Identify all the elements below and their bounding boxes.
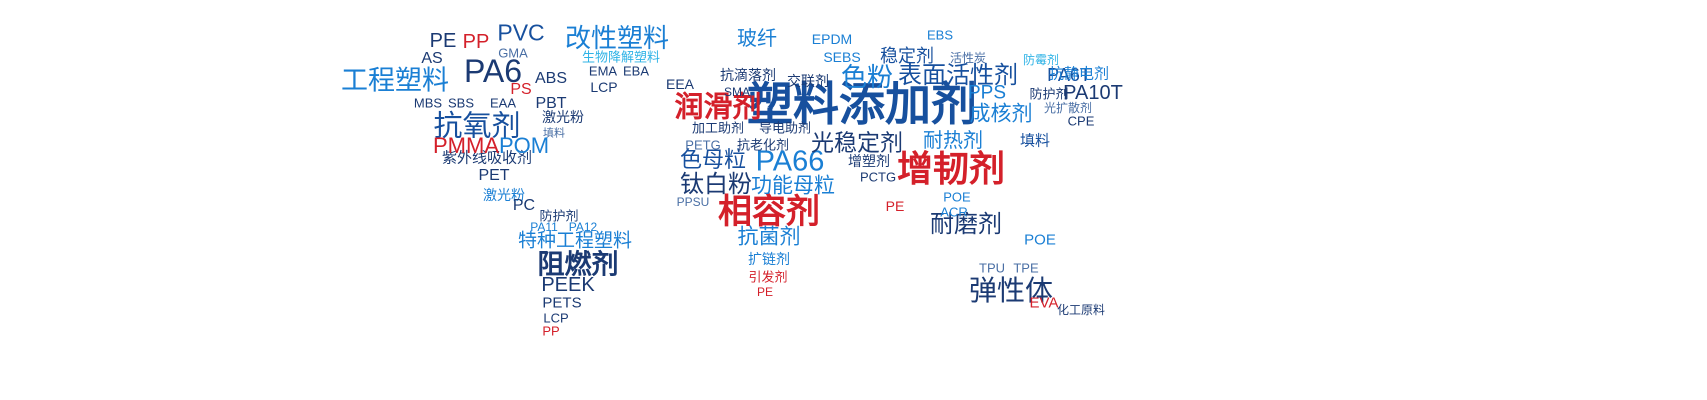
word-cloud-term[interactable]: 钛白粉 <box>680 173 752 197</box>
word-cloud-term[interactable]: 填料 <box>1020 134 1050 149</box>
word-cloud-term[interactable]: 相容剂 <box>718 195 820 229</box>
word-cloud-term[interactable]: PET <box>478 168 509 184</box>
word-cloud-term[interactable]: PA12 <box>569 221 597 233</box>
word-cloud-term[interactable]: 抗老化剂 <box>737 139 789 152</box>
word-cloud-term[interactable]: EBA <box>623 65 649 78</box>
word-cloud-term[interactable]: SEBS <box>823 50 860 64</box>
word-cloud-term[interactable]: 引发剂 <box>748 271 787 284</box>
word-cloud-term[interactable]: 光稳定剂 <box>811 132 903 155</box>
word-cloud-term[interactable]: CPE <box>1068 115 1095 128</box>
word-cloud-term[interactable]: 改性塑料 <box>565 25 669 51</box>
word-cloud-term[interactable]: 激光粉 <box>542 110 584 124</box>
word-cloud-term[interactable]: 化工原料 <box>1057 304 1105 316</box>
word-cloud-term[interactable]: 色粉 <box>841 64 893 90</box>
word-cloud-term[interactable]: POM <box>499 135 549 157</box>
word-cloud-term[interactable]: 抗静电剂 <box>1049 67 1109 82</box>
word-cloud-term[interactable]: MBS <box>414 97 442 110</box>
word-cloud-term[interactable]: SMA <box>724 86 750 98</box>
word-cloud-term[interactable]: 生物降解塑料 <box>582 51 660 64</box>
word-cloud-term[interactable]: 增塑剂 <box>848 154 890 168</box>
word-cloud-term[interactable]: 抗菌剂 <box>738 227 801 248</box>
word-cloud-term[interactable]: PE <box>430 31 457 51</box>
word-cloud-term[interactable]: 特种工程塑料 <box>518 232 632 251</box>
word-cloud-term[interactable]: PPSU <box>677 196 710 208</box>
word-cloud-term[interactable]: PEEK <box>541 275 594 295</box>
word-cloud-term[interactable]: PP <box>542 325 559 338</box>
word-cloud-term[interactable]: GMA <box>498 47 528 60</box>
word-cloud-term[interactable]: 光扩散剂 <box>1044 102 1092 114</box>
word-cloud-term[interactable]: PCTG <box>860 171 896 184</box>
word-cloud-term[interactable]: 导电助剂 <box>759 122 811 135</box>
word-cloud-term[interactable]: 耐热剂 <box>923 131 983 151</box>
word-cloud-term[interactable]: TPE <box>1013 262 1038 275</box>
word-cloud-term[interactable]: PMMA <box>433 135 499 157</box>
word-cloud-canvas: 塑料添加剂增韧剂相容剂润滑剂阻燃剂工程塑料改性塑料抗氧剂PA6PA66表面活性剂… <box>0 0 1707 400</box>
word-cloud-term[interactable]: AS <box>421 51 442 67</box>
word-cloud-term[interactable]: POE <box>1024 233 1056 248</box>
word-cloud-term[interactable]: PVC <box>497 22 544 45</box>
word-cloud-term[interactable]: 活性炭 <box>950 52 986 64</box>
word-cloud-term[interactable]: EPDM <box>812 32 852 46</box>
word-cloud-term[interactable]: PPS <box>968 84 1006 103</box>
word-cloud-term[interactable]: PC <box>513 198 535 214</box>
word-cloud-term[interactable]: EBS <box>927 29 953 42</box>
word-cloud-term[interactable]: 工程塑料 <box>341 68 449 95</box>
word-cloud-term[interactable]: 抗滴落剂 <box>720 68 776 82</box>
word-cloud-term[interactable]: ABS <box>535 71 567 87</box>
word-cloud-term[interactable]: PETS <box>542 296 581 311</box>
word-cloud-term[interactable]: PA11 <box>530 221 558 233</box>
word-cloud-term[interactable]: EMA <box>589 65 617 78</box>
word-cloud-term[interactable]: 功能母粒 <box>751 176 835 197</box>
word-cloud-term[interactable]: PA10T <box>1063 83 1123 103</box>
word-cloud-term[interactable]: 扩链剂 <box>748 252 790 266</box>
word-cloud-term[interactable]: 交联剂 <box>787 74 829 88</box>
word-cloud-term[interactable]: 玻纤 <box>737 29 777 49</box>
word-cloud-term[interactable]: 加工助剂 <box>692 122 744 135</box>
word-cloud-term[interactable]: POE <box>943 191 970 204</box>
word-cloud-term[interactable]: EVA <box>1030 296 1059 311</box>
word-cloud-term[interactable]: EAA <box>490 97 516 110</box>
word-cloud-term[interactable]: 增韧剂 <box>897 151 1005 187</box>
word-cloud-term[interactable]: PP <box>463 32 490 52</box>
word-cloud-term[interactable]: EEA <box>666 77 694 91</box>
word-cloud-term[interactable]: 稳定剂 <box>880 47 934 65</box>
word-cloud-term[interactable]: ACR <box>940 206 967 219</box>
word-cloud-term[interactable]: TPU <box>979 262 1005 275</box>
word-cloud-term[interactable]: 成核剂 <box>970 104 1033 125</box>
word-cloud-term[interactable]: PE <box>757 286 773 298</box>
word-cloud-term[interactable]: 防护剂 <box>1029 88 1068 101</box>
word-cloud-term[interactable]: 防霉剂 <box>1023 54 1059 66</box>
word-cloud-term[interactable]: PE <box>886 199 905 213</box>
word-cloud-term[interactable]: LCP <box>590 80 617 94</box>
word-cloud-term[interactable]: 填料 <box>543 129 565 140</box>
word-cloud-term[interactable]: SBS <box>448 97 474 110</box>
word-cloud-term[interactable]: PETG <box>685 139 720 152</box>
